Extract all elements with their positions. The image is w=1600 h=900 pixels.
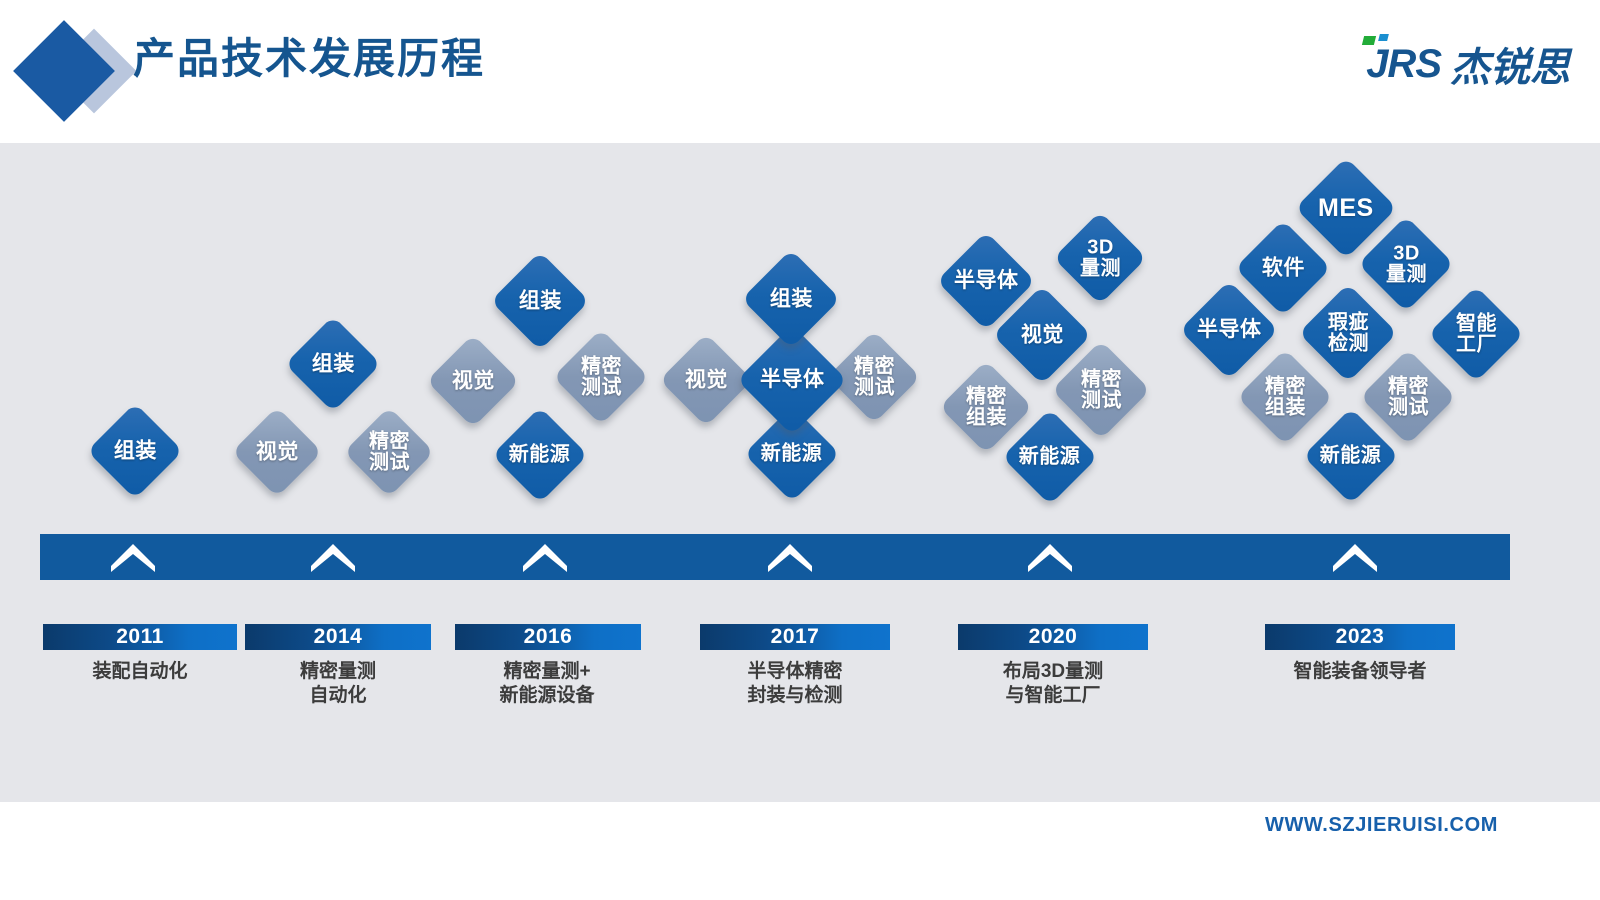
tech-diamond-label: 视觉 (1021, 324, 1064, 346)
milestone-year-label: 2017 (771, 625, 820, 649)
tech-diamond-label: 半导体 (1197, 319, 1262, 341)
page-header: 产品技术发展历程 JRS 杰锐思 (0, 0, 1600, 143)
timeline-chevron-up-icon (523, 544, 567, 572)
tech-diamond-label: 新能源 (509, 445, 571, 466)
tech-diamond-label: 精密 组装 (966, 386, 1007, 428)
tech-diamond-label: 智能 工厂 (1456, 313, 1497, 355)
footer-website-url[interactable]: WWW.SZJIERUISI.COM (1265, 814, 1498, 837)
milestone-caption: 智能装备领导者 (1250, 660, 1470, 684)
tech-diamond-label: 新能源 (761, 444, 823, 465)
tech-diamond-label: MES (1318, 195, 1374, 221)
milestone-caption: 精密量测+ 新能源设备 (447, 660, 647, 709)
tech-diamond-label: 3D 量测 (1386, 243, 1427, 285)
tech-diamond-label: 精密 测试 (1388, 376, 1429, 418)
timeline-chevron-up-icon (1028, 544, 1072, 572)
tech-diamond-label: 视觉 (452, 370, 495, 392)
tech-diamond-label: 半导体 (760, 369, 824, 391)
milestone-caption: 装配自动化 (43, 660, 237, 684)
timeline-chevron-up-icon (111, 544, 155, 572)
milestone-year-badge[interactable]: 2016 (455, 624, 641, 650)
page-title: 产品技术发展历程 (133, 38, 485, 80)
tech-diamond-label: 精密 测试 (581, 356, 622, 398)
milestone-year-label: 2023 (1336, 625, 1385, 649)
tech-diamond-label: 新能源 (1320, 446, 1382, 467)
tech-diamond-label: 3D 量测 (1080, 237, 1121, 279)
tech-diamond-label: 精密 测试 (369, 431, 410, 473)
timeline-chevron-up-icon (1333, 544, 1377, 572)
tech-diamond-label: 瑕疵 检测 (1328, 312, 1369, 354)
tech-diamond-label: 半导体 (954, 270, 1018, 292)
tech-diamond-label: 组装 (770, 288, 813, 310)
milestone-year-badge[interactable]: 2020 (958, 624, 1148, 650)
diamond-logo-icon (22, 20, 132, 122)
tech-diamond-label: 组装 (519, 290, 562, 312)
tech-diamond-label: 视觉 (256, 441, 299, 463)
milestone-year-badge[interactable]: 2017 (700, 624, 890, 650)
milestone-year-label: 2016 (524, 625, 573, 649)
brand-logo-en: JRS (1366, 42, 1441, 87)
milestone-year-badge[interactable]: 2014 (245, 624, 431, 650)
tech-diamond-label: 视觉 (685, 369, 728, 391)
tech-diamond-label: 精密 组装 (1265, 376, 1306, 418)
milestone-caption: 半导体精密 封装与检测 (695, 660, 895, 709)
timeline-chevron-up-icon (768, 544, 812, 572)
milestone-year-badge[interactable]: 2011 (43, 624, 237, 650)
milestone-caption: 精密量测 自动化 (245, 660, 431, 709)
brand-logo: JRS 杰锐思 (1366, 38, 1570, 90)
milestone-caption: 布局3D量测 与智能工厂 (953, 660, 1153, 709)
milestone-year-badge[interactable]: 2023 (1265, 624, 1455, 650)
tech-diamond-label: 精密 测试 (854, 356, 895, 398)
tech-diamond-label: 组装 (312, 353, 355, 375)
timeline-chevron-up-icon (311, 544, 355, 572)
logo-blue-accent-icon (1378, 34, 1389, 41)
brand-logo-cn: 杰锐思 (1450, 35, 1570, 93)
milestone-year-label: 2020 (1029, 625, 1078, 649)
tech-diamond-label: 组装 (114, 440, 157, 462)
tech-diamond-label: 软件 (1262, 257, 1305, 279)
milestone-year-label: 2011 (116, 625, 164, 649)
milestone-year-label: 2014 (314, 625, 363, 649)
logo-green-accent-icon (1362, 36, 1376, 45)
tech-diamond-label: 新能源 (1019, 447, 1081, 468)
tech-diamond-label: 精密 测试 (1081, 369, 1122, 411)
